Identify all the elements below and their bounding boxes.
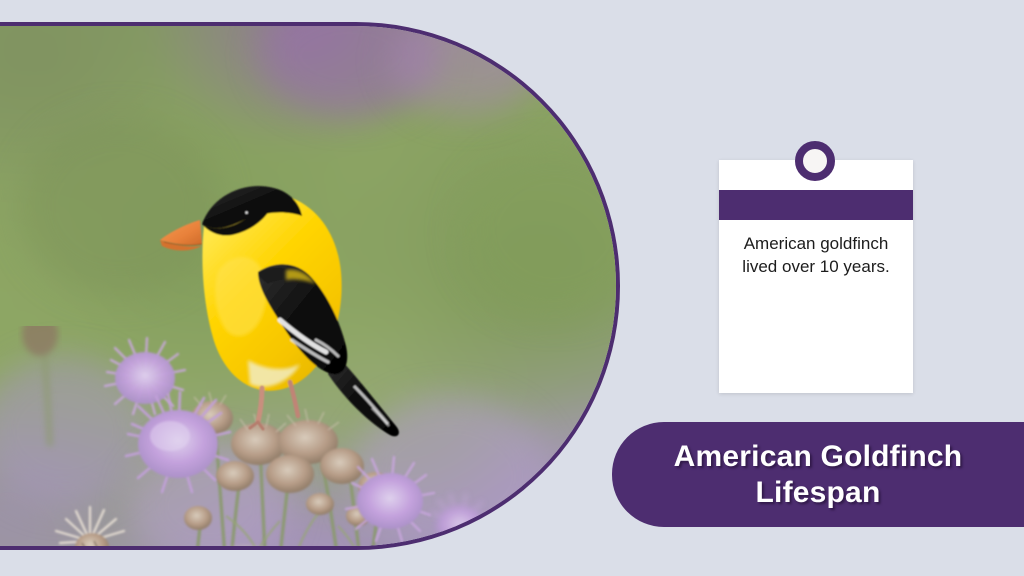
circle-pin-icon [795,141,835,181]
goldfinch-bird [140,154,440,454]
photo-panel [0,22,620,550]
fact-card: American goldfinch lived over 10 years. [719,160,913,393]
slide-canvas: American goldfinch lived over 10 years. … [0,0,1024,576]
goldfinch-photo [0,26,616,546]
fact-card-accent-band [719,190,913,220]
page-title: American Goldfinch Lifespan [660,439,977,511]
fact-card-text: American goldfinch lived over 10 years. [729,232,903,278]
title-banner: American Goldfinch Lifespan [612,422,1024,527]
